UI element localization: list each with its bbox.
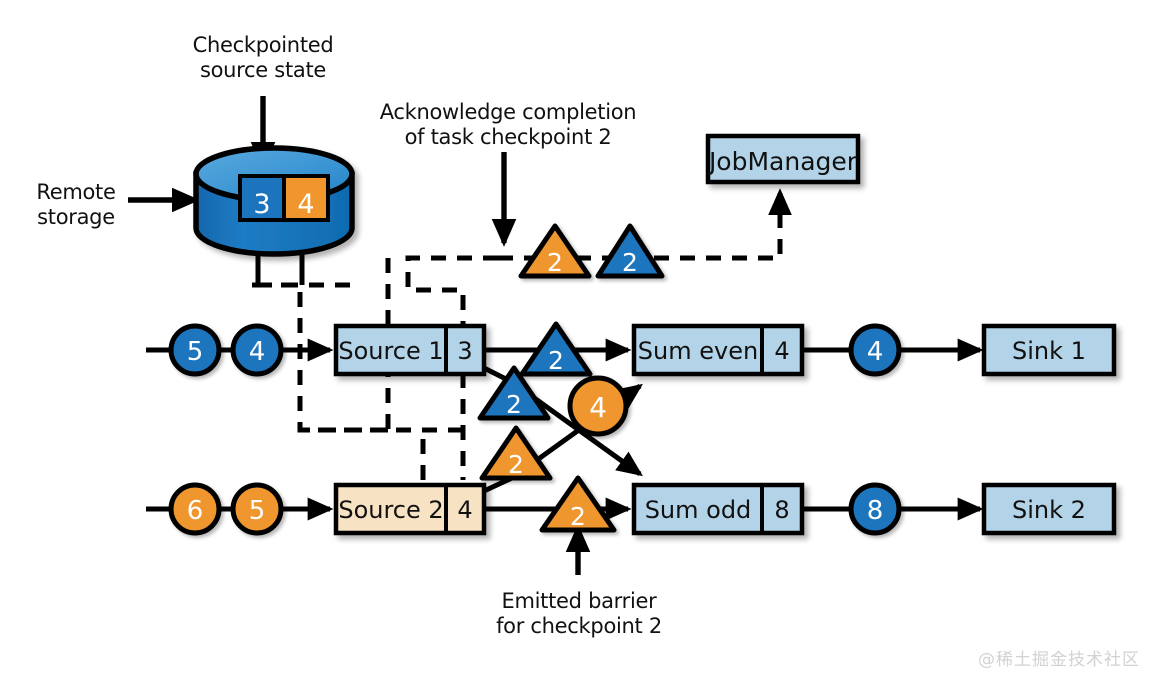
watermark: @稀土掘金技术社区	[978, 645, 1140, 670]
task-label-sink-1: Sink 1	[1012, 337, 1086, 365]
task-badge-sum-even: 4	[774, 337, 789, 365]
annotation-remote-storage: Remote storage	[20, 180, 132, 230]
record-value-4-shuffle: 4	[589, 391, 607, 424]
record-value-4-blue-out: 4	[867, 337, 884, 367]
task-badge-source-1: 3	[457, 337, 472, 365]
barrier-value-ack-blue: 2	[622, 248, 638, 277]
storage-slot-3-value: 3	[253, 189, 270, 220]
task-label-sum-odd: Sum odd	[645, 496, 752, 524]
record-value-8-blue-out: 8	[867, 496, 884, 526]
record-value-5-blue: 5	[187, 337, 204, 367]
storage-slot-4-value: 4	[297, 189, 314, 220]
task-badge-sum-odd: 8	[774, 496, 789, 524]
jobmanager-label: JobManager	[707, 147, 858, 176]
record-value-4-blue-in: 4	[249, 337, 266, 367]
barrier-value-s2-even: 2	[508, 450, 524, 479]
task-label-sum-even: Sum even	[638, 337, 758, 365]
barrier-value-s1-odd: 2	[506, 390, 522, 419]
task-label-sink-2: Sink 2	[1012, 496, 1086, 524]
barrier-value-ack-orange: 2	[547, 248, 563, 277]
barrier-value-s1-even: 2	[548, 346, 564, 375]
diagram-canvas: 3 4 JobManager Source 1 3 Sum even 4 Sin…	[0, 0, 1150, 678]
annotation-checkpointed-source-state: Checkpointed source state	[178, 33, 348, 83]
task-label-source-2: Source 2	[338, 496, 443, 524]
task-label-source-1: Source 1	[338, 337, 443, 365]
record-value-6-orange: 6	[187, 496, 204, 526]
barrier-value-s2-odd: 2	[570, 502, 586, 531]
task-badge-source-2: 4	[457, 496, 472, 524]
record-value-5-orange: 5	[249, 496, 266, 526]
annotation-acknowledge-completion: Acknowledge completion of task checkpoin…	[368, 100, 648, 150]
annotation-emitted-barrier: Emitted barrier for checkpoint 2	[468, 589, 690, 639]
